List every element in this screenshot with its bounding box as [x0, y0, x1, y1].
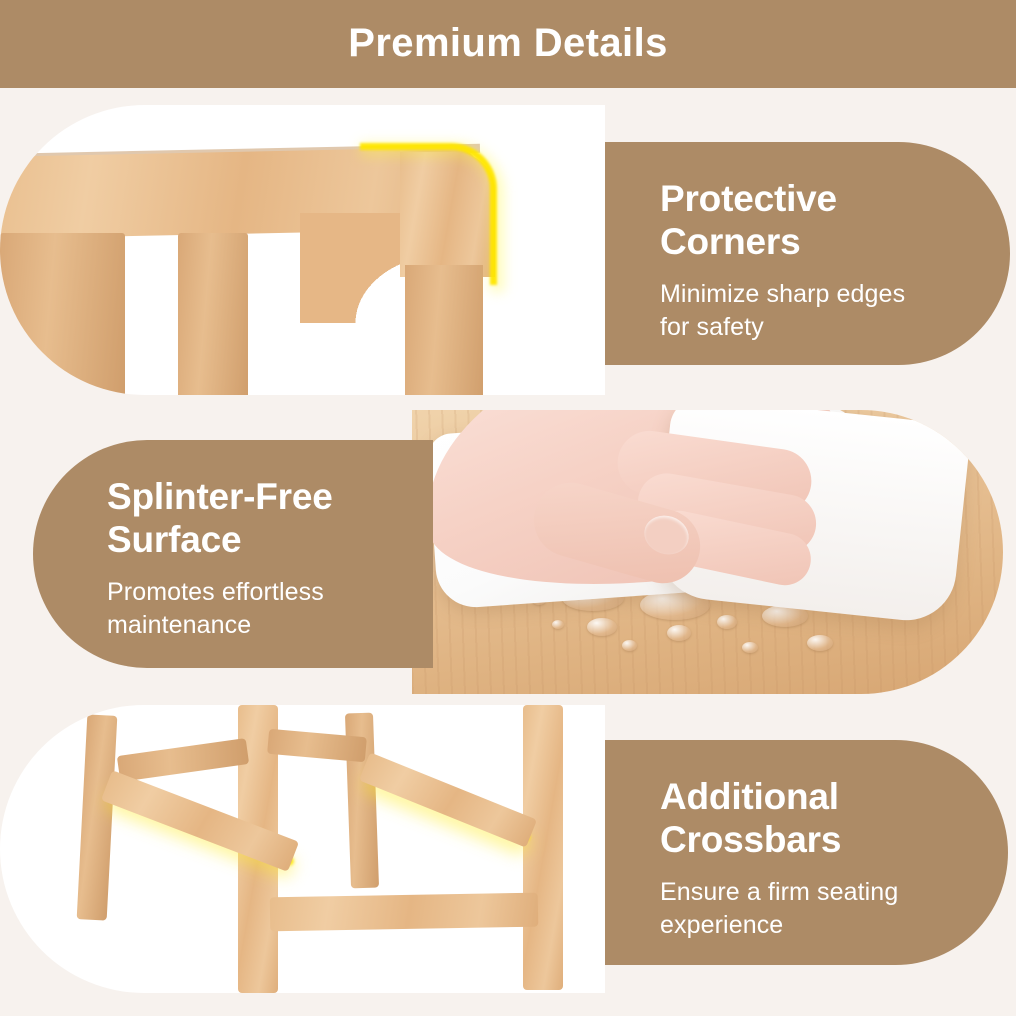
water-droplet — [587, 618, 617, 636]
chair-back-slat-left — [0, 233, 125, 395]
water-droplet — [807, 635, 833, 651]
feature-card-additional-crossbars: Additional Crossbars Ensure a firm seati… — [605, 740, 1008, 965]
feature-photo-additional-crossbars — [0, 705, 605, 993]
crossbar-rear-left — [117, 738, 249, 782]
water-droplet — [552, 620, 564, 629]
feature-photo-protective-corners — [0, 105, 605, 395]
feature-subtitle: Promotes effortless maintenance — [107, 576, 433, 642]
corner-highlight-arc-icon — [360, 143, 497, 285]
feature-subtitle: Ensure a firm seating experience — [660, 876, 1008, 942]
water-droplet — [622, 640, 637, 651]
feature-subtitle: Minimize sharp edges for safety — [660, 278, 1010, 344]
header-bar: Premium Details — [0, 0, 1016, 88]
water-droplet — [667, 625, 691, 641]
page-title: Premium Details — [348, 23, 667, 63]
feature-title: Additional Crossbars — [660, 776, 1008, 862]
feature-card-protective-corners: Protective Corners Minimize sharp edges … — [605, 142, 1010, 365]
chair-back-slat-center — [178, 233, 248, 395]
feature-photo-splinter-free-surface — [412, 410, 1003, 694]
feature-title: Protective Corners — [660, 178, 1010, 264]
feature-title: Splinter-Free Surface — [107, 476, 433, 562]
stool-leg-left — [77, 714, 118, 920]
crossbar-front-bottom — [270, 893, 539, 932]
water-droplet — [742, 642, 758, 653]
feature-card-splinter-free-surface: Splinter-Free Surface Promotes effortles… — [33, 440, 433, 668]
water-droplet — [717, 615, 737, 629]
